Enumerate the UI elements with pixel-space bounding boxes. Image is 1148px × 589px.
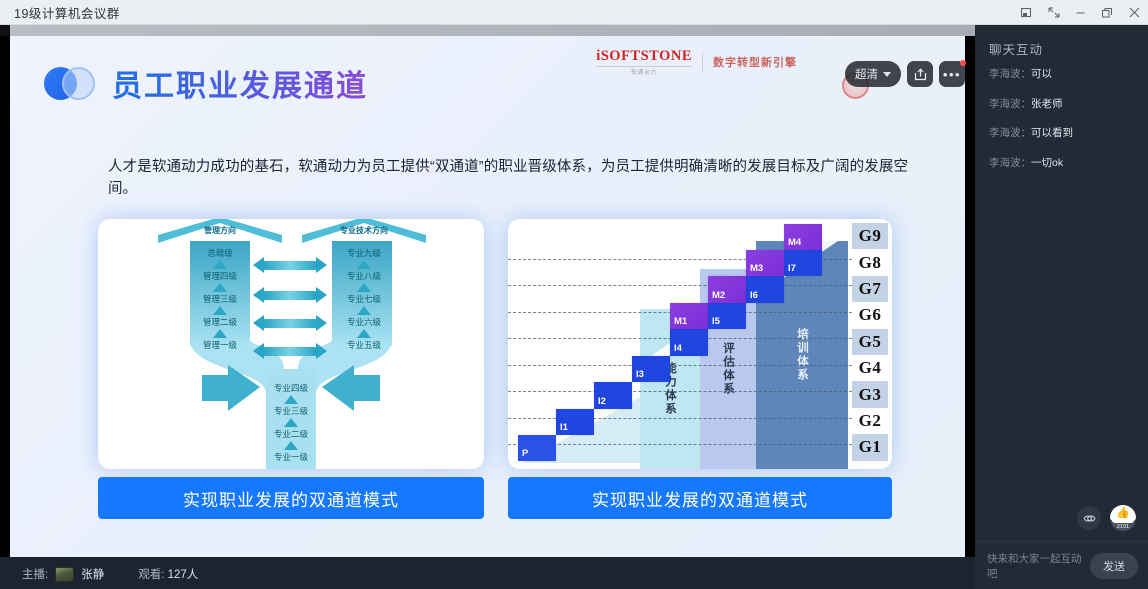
slide-body-text: 人才是软通动力成功的基石，软通动力为员工提供“双通道”的职业晋级体系，为员工提供… bbox=[108, 156, 908, 201]
funnel-level-left-0: 总裁级 bbox=[207, 247, 233, 259]
note-icon[interactable] bbox=[1013, 0, 1040, 25]
ladder-grade-g3: G3 bbox=[852, 381, 888, 407]
stream-info-bar: 主播: 张静 观看: 127人 标题: 2023届软通动力校园宣讲 bbox=[0, 557, 975, 589]
diagram-card-right: 能力体系 评估体系 培训体系 bbox=[508, 219, 892, 469]
dual-channel-funnel-diagram: 管理方向 专业技术方向 总裁级 管理四级 管理三级 管理二级 管理一级 专业九级 bbox=[98, 219, 484, 469]
sponsor-divider bbox=[702, 53, 703, 71]
ladder-step-m1: M1 bbox=[670, 303, 708, 329]
chat-panel-title: 聊天互动 bbox=[975, 25, 1148, 64]
sponsor-sub: 软通动力 bbox=[596, 66, 692, 76]
like-count: 2101 bbox=[1110, 523, 1136, 531]
ladder-grade-g6: G6 bbox=[852, 302, 888, 328]
chat-message: 李海波：一切ok bbox=[989, 157, 1134, 171]
slide-logo-icon bbox=[42, 63, 98, 103]
window-title: 19级计算机会议群 bbox=[14, 3, 120, 22]
slide-title: 员工职业发展通道 bbox=[112, 61, 368, 105]
funnel-level-left-3: 管理二级 bbox=[203, 316, 237, 328]
chat-message-text: 可以 bbox=[1031, 68, 1052, 80]
career-ladder-diagram: 能力体系 评估体系 培训体系 bbox=[508, 219, 892, 469]
like-button[interactable]: 👍 2101 bbox=[1110, 505, 1136, 531]
funnel-arrow-left-0 bbox=[213, 260, 227, 269]
player-controls: 超清 ••• bbox=[845, 61, 965, 87]
chat-input-bar: 快来和大家一起互动吧 发送 bbox=[975, 541, 1148, 589]
presentation-slide: 员工职业发展通道 iSOFTSTONE 软通动力 数字转型新引擎 人才是软通动力… bbox=[10, 36, 965, 557]
funnel-trunk-arrow-0 bbox=[284, 395, 298, 404]
funnel-arrow-right-1 bbox=[357, 283, 371, 292]
chat-message-text: 一切ok bbox=[1031, 157, 1063, 169]
sponsor-tagline: 数字转型新引擎 bbox=[713, 54, 797, 70]
close-icon[interactable] bbox=[1121, 0, 1148, 25]
chat-message-author: 李海波： bbox=[989, 98, 1031, 110]
funnel-cross-arrow-2 bbox=[264, 319, 316, 328]
ladder-step-i3: I3 bbox=[632, 356, 670, 382]
ladder-step-m2: M2 bbox=[708, 276, 746, 303]
window-controls bbox=[1013, 0, 1148, 24]
funnel-banner-management: 管理方向 bbox=[204, 225, 236, 236]
funnel-trunk-level-3: 专业一级 bbox=[274, 451, 308, 463]
chat-message-author: 李海波： bbox=[989, 68, 1031, 80]
funnel-level-right-4: 专业五级 bbox=[347, 339, 381, 351]
viewers-count: 127人 bbox=[168, 569, 199, 581]
ladder-grade-g2: G2 bbox=[852, 408, 888, 434]
restore-icon[interactable] bbox=[1094, 0, 1121, 25]
funnel-level-left-2: 管理三级 bbox=[203, 293, 237, 305]
sponsor-logo: iSOFTSTONE 软通动力 数字转型新引擎 bbox=[596, 48, 797, 76]
chat-message-text: 张老师 bbox=[1031, 98, 1063, 110]
chevron-down-icon bbox=[883, 72, 891, 77]
ladder-step-p: P bbox=[518, 435, 556, 461]
host-name: 张静 bbox=[81, 566, 104, 582]
thumbs-up-icon: 👍 bbox=[1116, 508, 1130, 519]
funnel-arrow-right-3 bbox=[357, 329, 371, 338]
funnel-banner-technical: 专业技术方向 bbox=[340, 225, 388, 236]
chat-message-author: 李海波： bbox=[989, 127, 1031, 139]
ladder-step-m3: M3 bbox=[746, 250, 784, 276]
quality-selector[interactable]: 超清 bbox=[845, 61, 901, 87]
chat-message-list[interactable]: 李海波：可以 李海波：张老师 李海波：可以看到 李海波：一切ok bbox=[975, 64, 1148, 505]
ladder-step-i7: I7 bbox=[784, 250, 822, 276]
funnel-level-right-1: 专业八级 bbox=[347, 270, 381, 282]
funnel-trunk-arrow-1 bbox=[284, 418, 298, 427]
funnel-trunk-arrow-2 bbox=[284, 441, 298, 450]
ladder-grade-g8: G8 bbox=[852, 249, 888, 275]
slide-header: 员工职业发展通道 bbox=[42, 61, 368, 105]
shrink-icon[interactable] bbox=[1040, 0, 1067, 25]
funnel-level-left-1: 管理四级 bbox=[203, 270, 237, 282]
ladder-grade-g4: G4 bbox=[852, 355, 888, 381]
funnel-arrow-right-2 bbox=[357, 306, 371, 315]
funnel-arrow-left-3 bbox=[213, 329, 227, 338]
chat-panel: 聊天互动 李海波：可以 李海波：张老师 李海波：可以看到 李海波：一切ok 👍 … bbox=[975, 25, 1148, 589]
chat-message: 李海波：可以看到 bbox=[989, 127, 1134, 141]
funnel-cross-arrow-1 bbox=[264, 291, 316, 300]
chat-message-text: 可以看到 bbox=[1031, 127, 1073, 139]
funnel-trunk-level-1: 专业三级 bbox=[274, 405, 308, 417]
funnel-trunk-level-2: 专业二级 bbox=[274, 428, 308, 440]
ladder-grade-g9: G9 bbox=[852, 223, 888, 249]
ladder-step-i6: I6 bbox=[746, 276, 784, 303]
share-icon bbox=[914, 68, 927, 81]
ladder-grade-g7: G7 bbox=[852, 276, 888, 302]
funnel-cross-arrow-3 bbox=[264, 347, 316, 356]
ladder-grade-column: G9 G8 G7 G6 G5 G4 G3 G2 G1 bbox=[852, 223, 888, 461]
link-icon[interactable] bbox=[1077, 506, 1101, 530]
ladder-grade-g1: G1 bbox=[852, 434, 888, 460]
send-button[interactable]: 发送 bbox=[1090, 553, 1138, 579]
host-label: 主播: bbox=[22, 566, 48, 582]
viewers-label: 观看: bbox=[138, 569, 164, 581]
funnel-cross-arrow-0 bbox=[264, 261, 316, 270]
share-button[interactable] bbox=[907, 61, 933, 87]
chat-input[interactable]: 快来和大家一起互动吧 bbox=[987, 551, 1084, 581]
chat-message: 李海波：可以 bbox=[989, 68, 1134, 82]
funnel-arrow-right-0 bbox=[357, 260, 371, 269]
notification-dot-icon bbox=[960, 60, 966, 66]
ladder-grade-g5: G5 bbox=[852, 329, 888, 355]
funnel-level-right-3: 专业六级 bbox=[347, 316, 381, 328]
video-stage[interactable]: 员工职业发展通道 iSOFTSTONE 软通动力 数字转型新引擎 人才是软通动力… bbox=[0, 25, 975, 589]
funnel-level-right-2: 专业七级 bbox=[347, 293, 381, 305]
quality-label: 超清 bbox=[855, 66, 878, 82]
ladder-step-i1: I1 bbox=[556, 409, 594, 435]
minimize-icon[interactable] bbox=[1067, 0, 1094, 25]
window-title-bar: 19级计算机会议群 bbox=[0, 0, 1148, 25]
diagram-card-left: 管理方向 专业技术方向 总裁级 管理四级 管理三级 管理二级 管理一级 专业九级 bbox=[98, 219, 484, 469]
live-stream-window: 19级计算机会议群 bbox=[0, 0, 1148, 589]
caption-right: 实现职业发展的双通道模式 bbox=[508, 477, 892, 519]
funnel-trunk-level-0: 专业四级 bbox=[274, 382, 308, 394]
sponsor-name: iSOFTSTONE bbox=[596, 48, 692, 65]
chat-message-author: 李海波： bbox=[989, 157, 1031, 169]
funnel-level-right-0: 专业九级 bbox=[347, 247, 381, 259]
ladder-step-i2: I2 bbox=[594, 382, 632, 409]
more-options-button[interactable]: ••• bbox=[939, 61, 965, 87]
ladder-step-i4: I4 bbox=[670, 329, 708, 356]
ladder-step-i5: I5 bbox=[708, 303, 746, 329]
host-avatar bbox=[55, 567, 74, 582]
funnel-arrow-left-2 bbox=[213, 306, 227, 315]
stage-top-strip bbox=[0, 25, 975, 36]
ladder-step-m4: M4 bbox=[784, 224, 822, 250]
more-icon: ••• bbox=[943, 68, 961, 81]
chat-tools: 👍 2101 bbox=[975, 505, 1148, 541]
chat-message: 李海波：张老师 bbox=[989, 98, 1134, 112]
caption-left: 实现职业发展的双通道模式 bbox=[98, 477, 484, 519]
funnel-arrow-left-1 bbox=[213, 283, 227, 292]
funnel-level-left-4: 管理一级 bbox=[203, 339, 237, 351]
